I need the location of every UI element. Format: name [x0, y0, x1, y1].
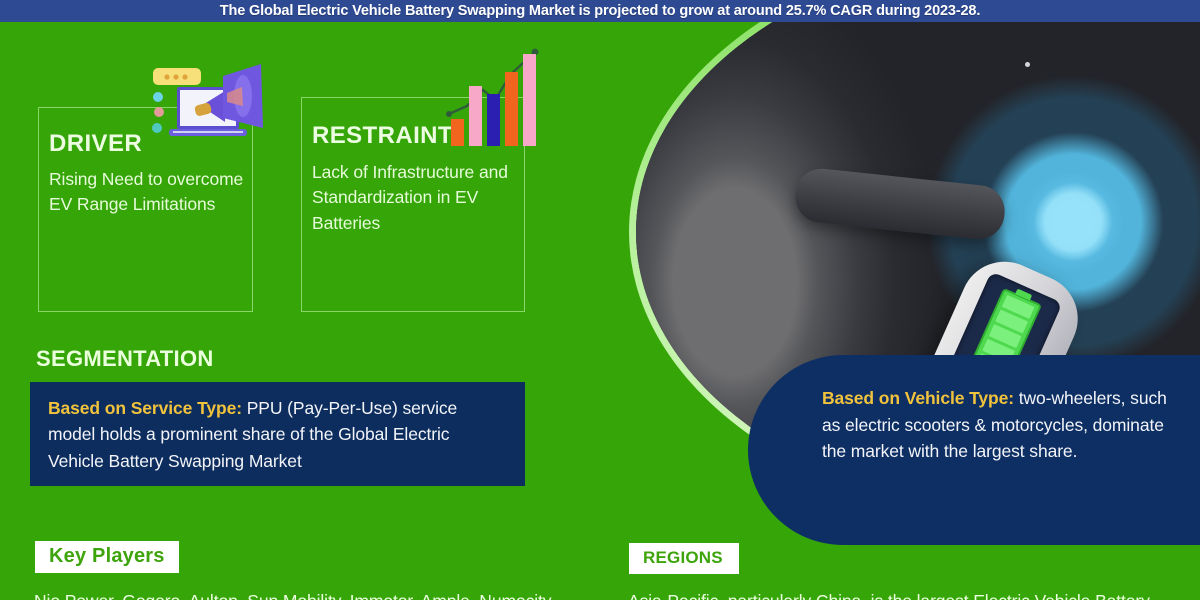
header-banner: The Global Electric Vehicle Battery Swap…: [0, 0, 1200, 22]
infographic-canvas: DRIVER Rising Need to overcome EV Range …: [0, 22, 1200, 600]
megaphone-laptop-icon: [143, 62, 268, 152]
growth-bar-chart-icon: [443, 44, 548, 149]
segmentation-service-type-box: Based on Service Type: PPU (Pay-Per-Use)…: [30, 382, 525, 486]
regions-pill: REGIONS: [629, 543, 739, 574]
bar-chart-icon: [451, 54, 536, 146]
driver-card-body: Rising Need to overcome EV Range Limitat…: [49, 167, 246, 218]
restraint-card-body: Lack of Infrastructure and Standardizati…: [312, 160, 518, 236]
photo-highlight-dot: [1025, 62, 1030, 67]
service-type-label: Based on Service Type:: [48, 398, 242, 418]
segmentation-vehicle-type-panel: Based on Vehicle Type: two-wheelers, suc…: [748, 355, 1200, 545]
charger-arm: [793, 166, 1007, 242]
headline-text: The Global Electric Vehicle Battery Swap…: [220, 3, 980, 19]
driver-card-title: DRIVER: [49, 130, 142, 158]
key-players-text: Nio Power, Gogoro, Aulton, Sun Mobility,…: [34, 588, 609, 600]
segmentation-heading: SEGMENTATION: [36, 346, 214, 372]
key-players-pill: Key Players: [35, 541, 179, 573]
restraint-card-title: RESTRAINT: [312, 122, 453, 150]
regions-text: Asia-Pacific, particularly China, is the…: [628, 588, 1188, 600]
vehicle-type-label: Based on Vehicle Type:: [822, 388, 1014, 408]
